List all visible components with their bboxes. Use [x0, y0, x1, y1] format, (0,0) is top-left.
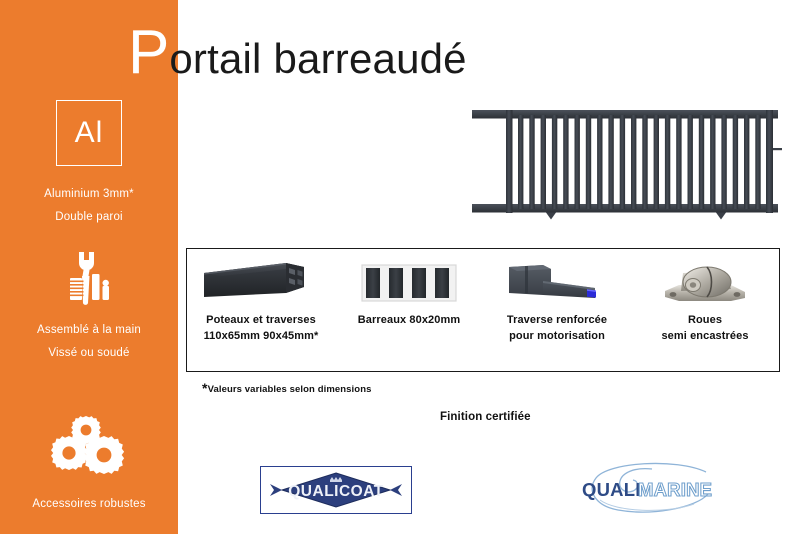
- qualimarine-wordmark-quali: QUALI: [582, 479, 641, 500]
- footnote-text: Valeurs variables selon dimensions: [208, 384, 372, 395]
- bars-profile-thumbnail: [356, 255, 462, 311]
- sliding-gate-illustration: [466, 98, 784, 223]
- reinforced-rail-thumbnail: [499, 255, 615, 311]
- sidebar-feature-aluminium-line2: Double paroi: [0, 211, 178, 224]
- sidebar-feature-assembly: Assemblé à la main Vissé ou soudé: [0, 250, 178, 360]
- product-sheet-page: Al Aluminium 3mm* Double paroi: [0, 0, 800, 534]
- page-title-text: ortail barreaudé: [169, 35, 466, 82]
- qualicoat-wordmark: QUALICOAT: [288, 483, 384, 500]
- component-traverse-renforcee: Traverse renforcée pour motorisation: [483, 249, 631, 371]
- component-roues-sublabel: semi encastrées: [661, 329, 748, 345]
- wrench-screws-icon: [0, 250, 178, 311]
- certification-heading: Finition certifiée: [440, 411, 531, 423]
- component-barreaux: Barreaux 80x20mm: [335, 249, 483, 371]
- wheel-bearing-thumbnail: [653, 255, 757, 311]
- component-poteaux-et-traverses: Poteaux et traverses 110x65mm 90x45mm*: [187, 249, 335, 371]
- aluminium-al-icon: Al: [56, 100, 122, 166]
- qualimarine-logo: QUALI MARINE: [556, 460, 736, 520]
- page-title-initial: P: [128, 18, 169, 87]
- component-roues-label: Roues: [688, 314, 722, 326]
- components-box: Poteaux et traverses 110x65mm 90x45mm*: [186, 248, 780, 372]
- aluminium-post-profile-thumbnail: [200, 255, 322, 311]
- component-barreaux-label: Barreaux 80x20mm: [358, 314, 461, 326]
- sidebar-feature-assembly-line1: Assemblé à la main: [0, 324, 178, 337]
- sidebar-feature-accessories: Accessoires robustes: [0, 415, 178, 511]
- sidebar-feature-aluminium-line1: Aluminium 3mm*: [0, 188, 178, 201]
- page-title: Portail barreaudé: [128, 22, 467, 84]
- qualimarine-wordmark-marine: MARINE: [638, 479, 712, 500]
- sidebar-feature-assembly-line2: Vissé ou soudé: [0, 347, 178, 360]
- sidebar-feature-accessories-line1: Accessoires robustes: [0, 498, 178, 511]
- sidebar-feature-aluminium: Al Aluminium 3mm* Double paroi: [0, 100, 178, 224]
- al-symbol-text: Al: [75, 118, 104, 148]
- component-roues: Roues semi encastrées: [631, 249, 779, 371]
- component-poteaux-label: Poteaux et traverses: [206, 314, 316, 326]
- component-traverse-label: Traverse renforcée: [507, 314, 607, 326]
- footnote: *Valeurs variables selon dimensions: [202, 380, 371, 396]
- qualicoat-logo: QUALICOAT: [260, 466, 412, 514]
- gears-icon: [0, 415, 178, 482]
- component-poteaux-sublabel: 110x65mm 90x45mm*: [204, 329, 319, 345]
- component-traverse-sublabel: pour motorisation: [507, 329, 607, 345]
